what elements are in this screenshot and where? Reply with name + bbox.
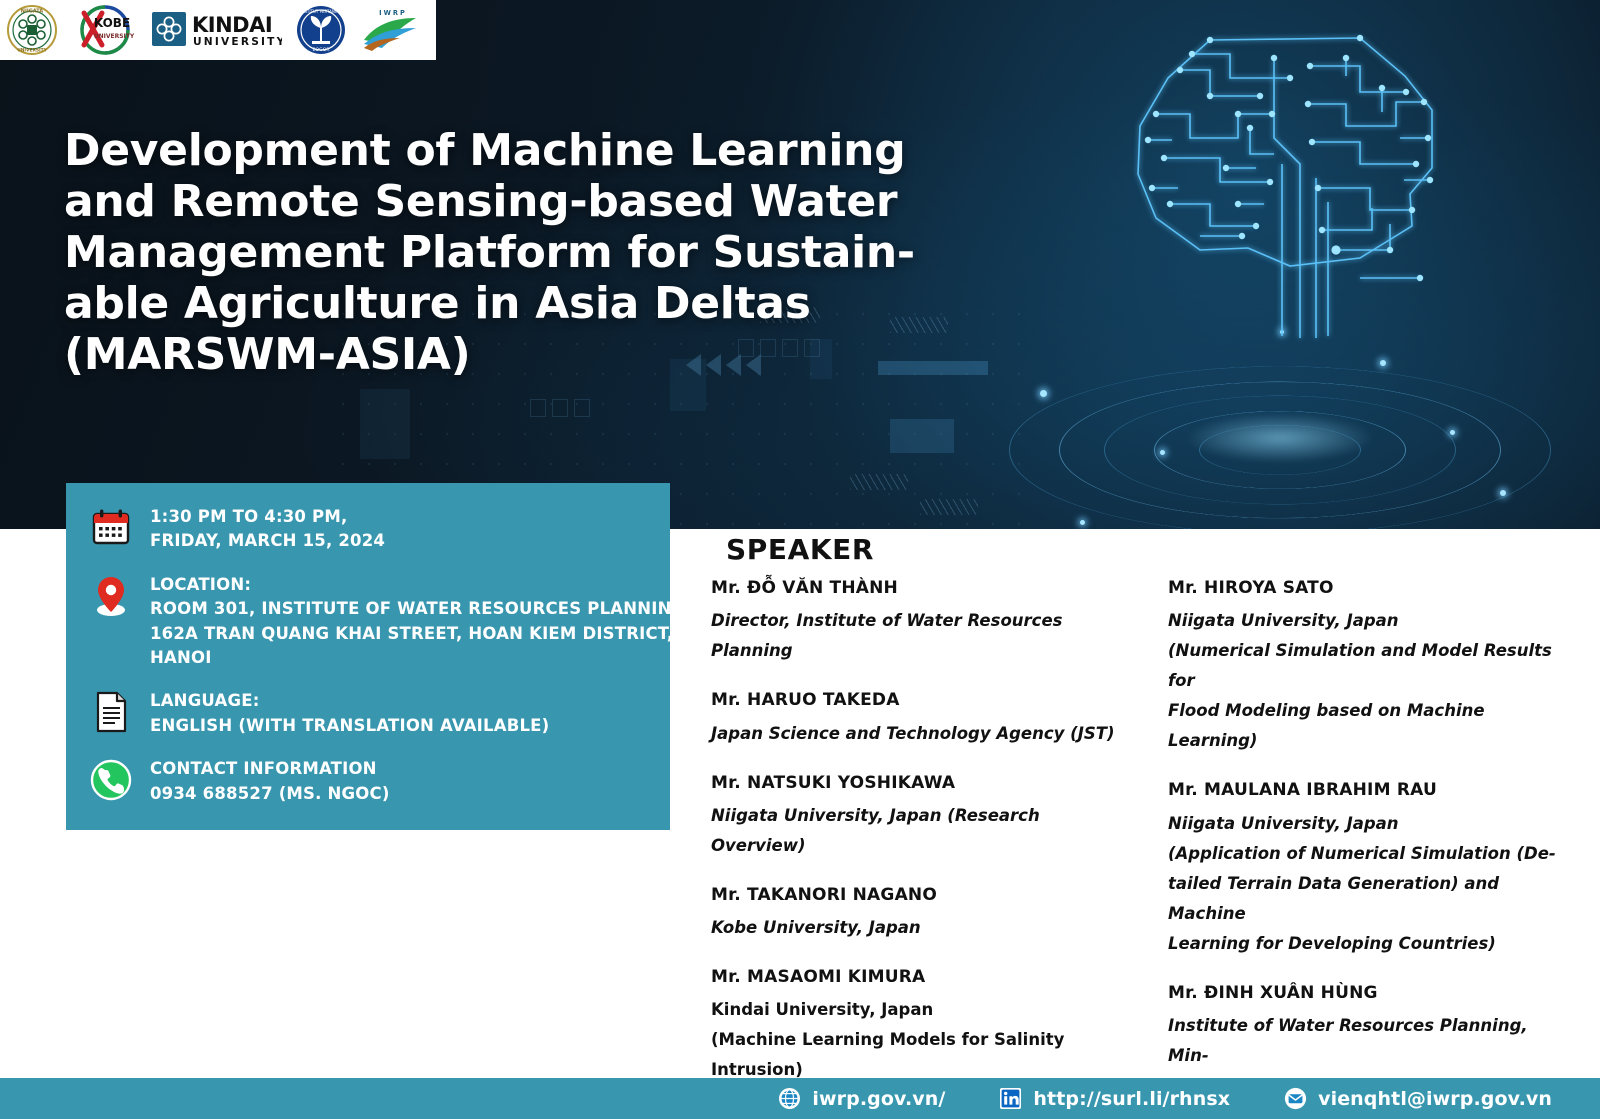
location-line-3: HANOI — [150, 646, 692, 670]
speaker-column-left: Mr. ĐỖ VĂN THÀNHDirector, Institute of W… — [711, 578, 1131, 1085]
footer-email-text: vienqhtl@iwrp.gov.vn — [1318, 1088, 1552, 1110]
speaker-name: Mr. TAKANORI NAGANO — [711, 885, 1131, 906]
svg-text:UNIVERSITY: UNIVERSITY — [193, 36, 282, 48]
circuit-brain-illustration — [1060, 18, 1530, 378]
kindai-university-logo: KINDAI UNIVERSITY — [152, 4, 282, 56]
event-language-text: LANGUAGE: ENGLISH (WITH TRANSLATION AVAI… — [150, 689, 549, 738]
footer-contact-bar: iwrp.gov.vn/ http://surl.li/rhnsx — [0, 1078, 1600, 1119]
svg-text:BOGOR: BOGOR — [312, 47, 330, 53]
contact-line-1: 0934 688527 (MS. NGOC) — [150, 782, 390, 806]
globe-icon — [778, 1087, 801, 1110]
speaker-affiliation-line: Learning for Developing Countries) — [1168, 929, 1568, 959]
speaker-affiliation-line: (Machine Learning Models for Salinity In… — [711, 1025, 1131, 1085]
speaker-entry: Mr. HIROYA SATONiigata University, Japan… — [1168, 578, 1568, 756]
speaker-affiliation: Director, Institute of Water Resources P… — [711, 606, 1131, 666]
poster-root: NIIGATA UNIVERSITY KOBE UNIVERSITY KINDA… — [0, 0, 1600, 1119]
speaker-name: Mr. MASAOMI KIMURA — [711, 967, 1131, 988]
contact-label: CONTACT INFORMATION — [150, 757, 390, 781]
document-icon — [88, 689, 134, 735]
title-line-1: Development of Machine Learning — [64, 125, 884, 176]
envelope-icon — [1284, 1087, 1307, 1110]
svg-text:IWRP: IWRP — [379, 9, 407, 17]
footer-linkedin-link[interactable]: http://surl.li/rhnsx — [999, 1087, 1230, 1110]
footer-email-link[interactable]: vienqhtl@iwrp.gov.vn — [1284, 1087, 1552, 1110]
footer-website-text: iwrp.gov.vn/ — [812, 1088, 945, 1110]
event-contact-row: CONTACT INFORMATION 0934 688527 (MS. NGO… — [88, 757, 648, 806]
speaker-entry: Mr. MASAOMI KIMURAKindai University, Jap… — [711, 967, 1131, 1085]
title-line-4: able Agriculture in Asia Deltas — [64, 278, 884, 329]
speaker-entry: Mr. MAULANA IBRAHIM RAUNiigata Universit… — [1168, 780, 1568, 958]
event-location-text: LOCATION: ROOM 301, INSTITUTE OF WATER R… — [150, 573, 692, 671]
speaker-name: Mr. NATSUKI YOSHIKAWA — [711, 773, 1131, 794]
title-line-3: Management Platform for Sustain- — [64, 227, 884, 278]
speaker-affiliation-line: Kindai University, Japan — [711, 995, 1131, 1025]
speaker-affiliation-line: Niigata University, Japan — [1168, 809, 1568, 839]
speaker-affiliation-line: Kobe University, Japan — [711, 913, 1131, 943]
speaker-affiliation-line: Institute of Water Resources Planning, M… — [1168, 1011, 1568, 1071]
map-pin-icon — [88, 573, 134, 619]
partner-logos-bar: NIIGATA UNIVERSITY KOBE UNIVERSITY KINDA… — [0, 0, 436, 60]
event-time-row: 1:30 PM TO 4:30 PM, FRIDAY, MARCH 15, 20… — [88, 505, 648, 554]
event-time-line-2: FRIDAY, MARCH 15, 2024 — [150, 529, 385, 553]
svg-text:NIIGATA: NIIGATA — [21, 9, 44, 15]
speaker-affiliation: Kindai University, Japan(Machine Learnin… — [711, 995, 1131, 1085]
speaker-affiliation: Niigata University, Japan (Research Over… — [711, 801, 1131, 861]
event-language-row: LANGUAGE: ENGLISH (WITH TRANSLATION AVAI… — [88, 689, 648, 738]
speaker-entry: Mr. TAKANORI NAGANOKobe University, Japa… — [711, 885, 1131, 943]
event-time-line-1: 1:30 PM TO 4:30 PM, — [150, 505, 385, 529]
svg-text:UNIVERSITY: UNIVERSITY — [17, 48, 47, 54]
linkedin-icon — [999, 1087, 1022, 1110]
speaker-affiliation-line: (Application of Numerical Simulation (De… — [1168, 839, 1568, 869]
footer-linkedin-text: http://surl.li/rhnsx — [1033, 1088, 1230, 1110]
title-line-2: and Remote Sensing-based Water — [64, 176, 884, 227]
speaker-affiliation: Niigata University, Japan(Numerical Simu… — [1168, 606, 1568, 756]
event-location-row: LOCATION: ROOM 301, INSTITUTE OF WATER R… — [88, 573, 648, 671]
speaker-affiliation: Japan Science and Technology Agency (JST… — [711, 719, 1131, 749]
niigata-university-logo: NIIGATA UNIVERSITY — [6, 4, 58, 56]
svg-text:INSTITUT PERTANIAN: INSTITUT PERTANIAN — [300, 9, 342, 14]
event-details-box: 1:30 PM TO 4:30 PM, FRIDAY, MARCH 15, 20… — [66, 483, 670, 830]
svg-text:KOBE: KOBE — [94, 16, 130, 30]
speaker-affiliation-line: Director, Institute of Water Resources P… — [711, 606, 1131, 666]
speaker-affiliation-line: Niigata University, Japan (Research Over… — [711, 801, 1131, 861]
speaker-name: Mr. HIROYA SATO — [1168, 578, 1568, 599]
svg-text:UNIVERSITY: UNIVERSITY — [94, 33, 135, 40]
speaker-entry: Mr. ĐỖ VĂN THÀNHDirector, Institute of W… — [711, 578, 1131, 666]
calendar-icon — [88, 505, 134, 551]
svg-text:KINDAI: KINDAI — [192, 13, 272, 37]
event-time-text: 1:30 PM TO 4:30 PM, FRIDAY, MARCH 15, 20… — [150, 505, 385, 554]
language-line-1: ENGLISH (WITH TRANSLATION AVAILABLE) — [150, 714, 549, 738]
speaker-entry: Mr. HARUO TAKEDAJapan Science and Techno… — [711, 690, 1131, 748]
location-line-1: ROOM 301, INSTITUTE OF WATER RESOURCES P… — [150, 597, 692, 621]
speaker-affiliation-line: (Numerical Simulation and Model Results … — [1168, 636, 1568, 696]
institut-pertanian-bogor-logo: INSTITUT PERTANIAN BOGOR — [296, 4, 346, 56]
location-label: LOCATION: — [150, 573, 692, 597]
speaker-name: Mr. ĐINH XUÂN HÙNG — [1168, 983, 1568, 1004]
kobe-university-logo: KOBE UNIVERSITY — [72, 4, 138, 56]
speaker-affiliation: Niigata University, Japan(Application of… — [1168, 809, 1568, 959]
speaker-affiliation-line: Niigata University, Japan — [1168, 606, 1568, 636]
speaker-affiliation-line: Flood Modeling based on Machine Learning… — [1168, 696, 1568, 756]
location-line-2: 162A TRAN QUANG KHAI STREET, HOAN KIEM D… — [150, 622, 692, 646]
title-line-5: (MARSWM-ASIA) — [64, 329, 884, 380]
speaker-affiliation: Kobe University, Japan — [711, 913, 1131, 943]
iwrp-logo: IWRP — [360, 4, 422, 56]
speaker-affiliation-line: Japan Science and Technology Agency (JST… — [711, 719, 1131, 749]
speaker-name: Mr. HARUO TAKEDA — [711, 690, 1131, 711]
speaker-name: Mr. ĐỖ VĂN THÀNH — [711, 578, 1131, 599]
event-contact-text: CONTACT INFORMATION 0934 688527 (MS. NGO… — [150, 757, 390, 806]
speaker-name: Mr. MAULANA IBRAHIM RAU — [1168, 780, 1568, 801]
poster-title: Development of Machine Learning and Remo… — [64, 125, 884, 380]
speaker-entry: Mr. NATSUKI YOSHIKAWANiigata University,… — [711, 773, 1131, 861]
footer-website-link[interactable]: iwrp.gov.vn/ — [778, 1087, 945, 1110]
phone-icon — [88, 757, 134, 803]
speaker-column-right: Mr. HIROYA SATONiigata University, Japan… — [1168, 578, 1568, 1119]
language-label: LANGUAGE: — [150, 689, 549, 713]
speaker-affiliation-line: tailed Terrain Data Generation) and Mach… — [1168, 869, 1568, 929]
